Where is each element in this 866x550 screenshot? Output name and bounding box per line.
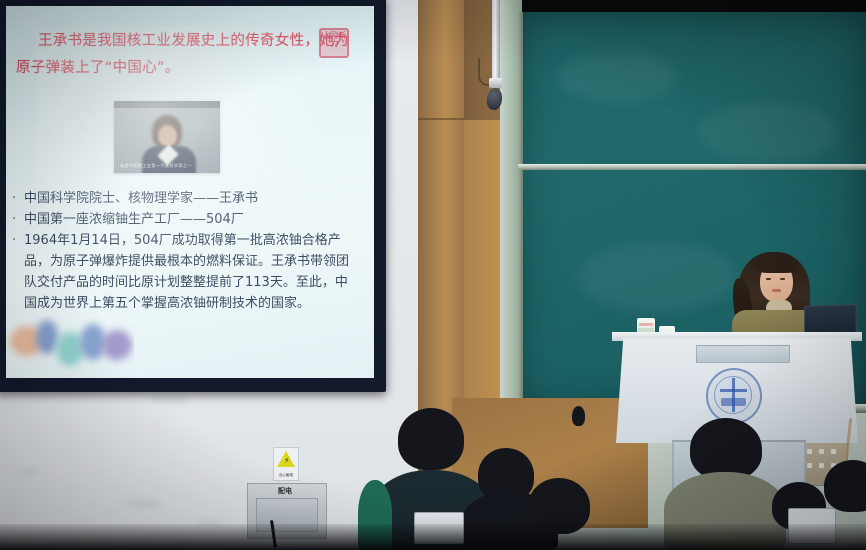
wall-box-tag: 配电	[278, 486, 292, 496]
bullet-marker: ·	[12, 230, 24, 251]
slide-bullet-list: · 中国科学院院士、核物理学家——王承书 · 中国第一座浓缩铀生产工厂——504…	[12, 188, 360, 314]
microphone-joint	[489, 78, 502, 88]
projected-slide: 王承书是我国核工业发展史上的传奇女性，她为 原子弹装上了“中国心”。 人民 新力…	[6, 6, 374, 378]
bullet-text: 中国科学院院士、核物理学家——王承书	[24, 188, 360, 209]
embedded-video-thumbnail[interactable]: 她是中国核工业第一代女科学家之一	[114, 101, 220, 173]
bullet-marker: ·	[12, 209, 24, 230]
video-top-bar	[114, 101, 220, 108]
list-item: · 中国第一座浓缩铀生产工厂——504厂	[12, 209, 360, 230]
audience-head	[398, 408, 464, 470]
electrical-warning-sign: ⚡ 当心触电	[273, 447, 299, 481]
door-knob-icon	[572, 406, 585, 426]
audience-body-khaki	[664, 472, 786, 550]
presenter-eye-right	[780, 278, 785, 280]
presenter-eye-left	[766, 278, 771, 280]
microphone-pole	[492, 0, 500, 86]
list-item: · 1964年1月14日，504厂成功取得第一批高浓铀合格产品，为原子弹爆炸提供…	[12, 230, 360, 314]
podium-nameplate	[696, 345, 790, 363]
audience-tablet[interactable]	[414, 512, 464, 544]
audience-head	[528, 478, 590, 534]
university-emblem-icon	[706, 368, 762, 424]
audience-head	[690, 418, 762, 480]
presenter-fringe	[755, 256, 799, 273]
lightning-bolt-icon: ⚡	[284, 457, 290, 465]
slide-headline-line1: 王承书是我国核工业发展史上的传奇女性，她为	[16, 33, 349, 49]
slide-headline-line2: 原子弹装上了“中国心”。	[16, 60, 180, 76]
wall-electrical-box: 配电	[247, 483, 327, 539]
audience-paper	[788, 508, 836, 544]
list-item: · 中国科学院院士、核物理学家——王承书	[12, 188, 360, 209]
lecture-hall-scene: 王承书是我国核工业发展史上的传奇女性，她为 原子弹装上了“中国心”。 人民 新力…	[0, 0, 866, 550]
slide-background-artwork	[6, 316, 134, 378]
audience-head	[824, 460, 866, 512]
warning-sign-text: 当心触电	[274, 473, 298, 478]
bullet-marker: ·	[12, 188, 24, 209]
video-caption: 她是中国核工业第一代女科学家之一	[120, 163, 192, 169]
bullet-text: 中国第一座浓缩铀生产工厂——504厂	[24, 209, 360, 230]
slide-headline: 王承书是我国核工业发展史上的传奇女性，她为 原子弹装上了“中国心”。	[16, 28, 356, 82]
bullet-text: 1964年1月14日，504厂成功取得第一批高浓铀合格产品，为原子弹爆炸提供最根…	[24, 230, 360, 314]
presenter-mouth	[772, 289, 781, 292]
projection-screen-frame: 王承书是我国核工业发展史上的传奇女性，她为 原子弹装上了“中国心”。 人民 新力…	[0, 0, 386, 392]
red-seal-stamp: 人民 新力	[319, 28, 349, 58]
audience-shoulder-green	[358, 480, 392, 550]
